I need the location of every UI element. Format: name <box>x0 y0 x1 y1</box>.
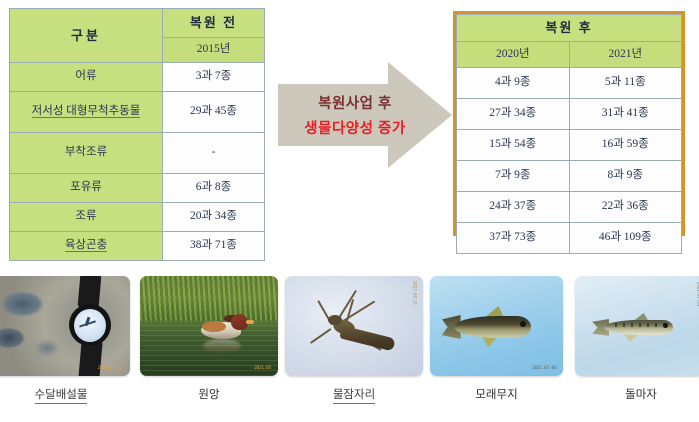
table-row: 포유류 6과 8종 <box>10 174 265 203</box>
photo-timestamp: 2021.07.03 <box>532 365 556 370</box>
row-label: 부착조류 <box>10 133 163 174</box>
caption-text: 돌마자 <box>625 386 657 402</box>
table-row: 부착조류 - <box>10 133 265 174</box>
row-value: - <box>163 133 265 174</box>
fish-body <box>454 316 531 338</box>
photo-slot-1: 2021.04.22 수달배설물 <box>0 276 130 376</box>
table-row: 27과 34종 31과 41종 <box>457 99 682 130</box>
photo-slot-4: 2021.07.03 모래무지 <box>430 276 563 376</box>
photo-slot-5: 2021.07.03 돌마자 <box>575 276 699 376</box>
photo-slot-2: 2021.05 원앙 <box>140 276 278 376</box>
row-value: 38과 71종 <box>163 232 265 261</box>
photo-caption-3: 물잠자리 <box>285 386 423 404</box>
row-value-2021: 22과 36종 <box>569 192 682 223</box>
table-row: 15과 54종 16과 59종 <box>457 130 682 161</box>
photo-timestamp: 2021.06.11 <box>412 281 417 305</box>
duck-reflection <box>203 339 240 353</box>
table-row: 조류 20과 34종 <box>10 203 265 232</box>
after-group-header: 복원 후 <box>457 15 682 42</box>
table-row: 7과 9종 8과 9종 <box>457 161 682 192</box>
duck-beak <box>246 320 254 324</box>
before-group-header: 복원 전 <box>163 9 265 38</box>
photo-caption-4: 모래무지 <box>430 386 563 402</box>
photo-slot-3: 2021.06.11 물잠자리 <box>285 276 423 376</box>
damselfly-photo[interactable]: 2021.06.11 <box>285 276 423 376</box>
row-value-2020: 4과 9종 <box>457 68 570 99</box>
arrow-line-1: 복원사업 후 <box>318 92 392 113</box>
row-value-2021: 8과 9종 <box>569 161 682 192</box>
row-label: 저서성 대형무척추동물 <box>10 92 163 133</box>
insect-head <box>328 315 342 325</box>
table-row: 어류 3과 7종 <box>10 63 265 92</box>
photo-timestamp: 2021.04.22 <box>98 365 122 370</box>
after-year-header-2021: 2021년 <box>569 42 682 68</box>
table-row: 저서성 대형무척추동물 29과 45종 <box>10 92 265 133</box>
row-label-text: 포유류 <box>70 181 102 193</box>
row-value-2021: 16과 59종 <box>569 130 682 161</box>
otter-scat-photo[interactable]: 2021.04.22 <box>0 276 130 376</box>
table-row: 육상곤충 38과 71종 <box>10 232 265 261</box>
arrow-line-2: 생물다양성 증가 <box>304 117 405 138</box>
row-label-text: 조류 <box>75 210 96 222</box>
row-value-2021: 46과 109종 <box>569 223 682 254</box>
row-value-2020: 37과 73종 <box>457 223 570 254</box>
goby-fish-photo[interactable]: 2021.07.03 <box>430 276 563 376</box>
arrow-text-block: 복원사업 후 생물다양성 증가 <box>278 62 418 168</box>
after-restoration-table: 복원 후 2020년 2021년 4과 9종 5과 11종 27과 34종 31… <box>456 14 682 254</box>
row-label-text: 저서성 대형무척추동물 <box>32 105 141 118</box>
mandarin-duck-photo[interactable]: 2021.05 <box>140 276 278 376</box>
row-value-2020: 24과 37종 <box>457 192 570 223</box>
row-value: 6과 8종 <box>163 174 265 203</box>
row-value: 3과 7종 <box>163 63 265 92</box>
photo-caption-2: 원앙 <box>140 386 278 402</box>
fish-eye <box>520 321 525 327</box>
grass-background <box>140 276 278 322</box>
row-label-text: 부착조류 <box>65 146 107 158</box>
stone-minnow-photo[interactable]: 2021.07.03 <box>575 276 699 376</box>
right-arrow-callout: 복원사업 후 생물다양성 증가 <box>278 62 452 168</box>
row-label-text: 어류 <box>75 70 96 82</box>
fish-eye <box>663 323 667 328</box>
caption-text: 물잠자리 <box>333 386 375 404</box>
before-category-header: 구분 <box>10 9 163 63</box>
row-label: 어류 <box>10 63 163 92</box>
after-restoration-table-frame: 복원 후 2020년 2021년 4과 9종 5과 11종 27과 34종 31… <box>453 11 685 236</box>
row-label: 포유류 <box>10 174 163 203</box>
slide-canvas: 구분 복원 전 2015년 어류 3과 7종 저서성 대형무척추동물 29과 4… <box>0 0 699 422</box>
row-value: 29과 45종 <box>163 92 265 133</box>
fish-lateral-spots <box>615 323 665 327</box>
row-label: 조류 <box>10 203 163 232</box>
table-row: 4과 9종 5과 11종 <box>457 68 682 99</box>
row-label: 육상곤충 <box>10 232 163 261</box>
row-value-2020: 27과 34종 <box>457 99 570 130</box>
photo-timestamp: 2021.05 <box>254 365 271 370</box>
caption-text: 수달배설물 <box>35 386 88 404</box>
photo-strip: 2021.04.22 수달배설물 2021.05 원앙 <box>0 276 699 422</box>
insect-leg <box>310 328 331 344</box>
table-row: 24과 37종 22과 36종 <box>457 192 682 223</box>
table-row-header-1: 구분 복원 전 <box>10 9 265 38</box>
before-restoration-table: 구분 복원 전 2015년 어류 3과 7종 저서성 대형무척추동물 29과 4… <box>9 8 265 261</box>
after-year-header-2020: 2020년 <box>457 42 570 68</box>
table-row: 37과 73종 46과 109종 <box>457 223 682 254</box>
caption-text: 모래무지 <box>475 386 517 402</box>
caption-text: 원앙 <box>198 386 219 402</box>
table-row-header-2: 2020년 2021년 <box>457 42 682 68</box>
duck-wing <box>202 321 225 332</box>
row-value-2020: 15과 54종 <box>457 130 570 161</box>
row-label-text: 육상곤충 <box>65 239 107 252</box>
row-value-2021: 31과 41종 <box>569 99 682 130</box>
row-value-2021: 5과 11종 <box>569 68 682 99</box>
photo-caption-5: 돌마자 <box>575 386 699 402</box>
table-row-header-1: 복원 후 <box>457 15 682 42</box>
row-value-2020: 7과 9종 <box>457 161 570 192</box>
photo-caption-1: 수달배설물 <box>0 386 130 404</box>
before-year-header: 2015년 <box>163 38 265 63</box>
row-value: 20과 34종 <box>163 203 265 232</box>
